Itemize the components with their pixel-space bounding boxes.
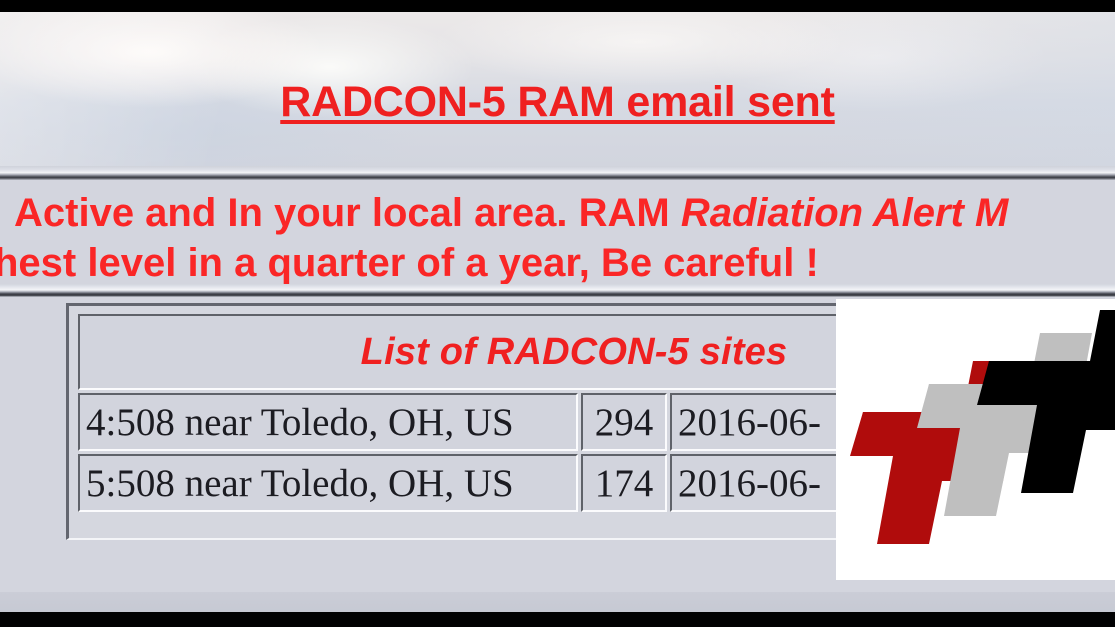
page-title: RADCON-5 RAM email sent (0, 78, 1115, 127)
page-title-text: RADCON-5 RAM email sent (280, 78, 834, 126)
triple-t-logo (836, 299, 1115, 580)
clipped-headline-above-fold: and are the channel below !! (0, 12, 1115, 18)
letterbox-bar-bottom (0, 612, 1115, 627)
page-footer-strip (0, 592, 1115, 612)
alert-banner-line-1: Active and In your local area. RAM Radia… (0, 188, 1115, 238)
cell-level: 174 (581, 454, 667, 512)
cell-site-name: 5:508 near Toledo, OH, US (78, 454, 578, 512)
table-title-text: List of RADCON-5 sites (361, 331, 788, 373)
cell-level: 294 (581, 393, 667, 451)
letterbox-bar-top (0, 0, 1115, 12)
divider-below-banner (0, 284, 1115, 297)
triple-t-logo-glyphs (836, 299, 1115, 580)
alert-banner-line-1-emphasis: Radiation Alert M (681, 191, 1008, 235)
alert-banner-line-1-lead: Active and In your local area. RAM (14, 191, 681, 235)
cell-site-name: 4:508 near Toledo, OH, US (78, 393, 578, 451)
divider-above-banner (0, 166, 1115, 180)
alert-banner-line-2: hest level in a quarter of a year, Be ca… (0, 238, 1115, 288)
alert-banner: Active and In your local area. RAM Radia… (0, 188, 1115, 288)
clipped-headline-text: and are the channel below !! (0, 12, 1115, 14)
logo-t-black-bar (982, 361, 1092, 400)
